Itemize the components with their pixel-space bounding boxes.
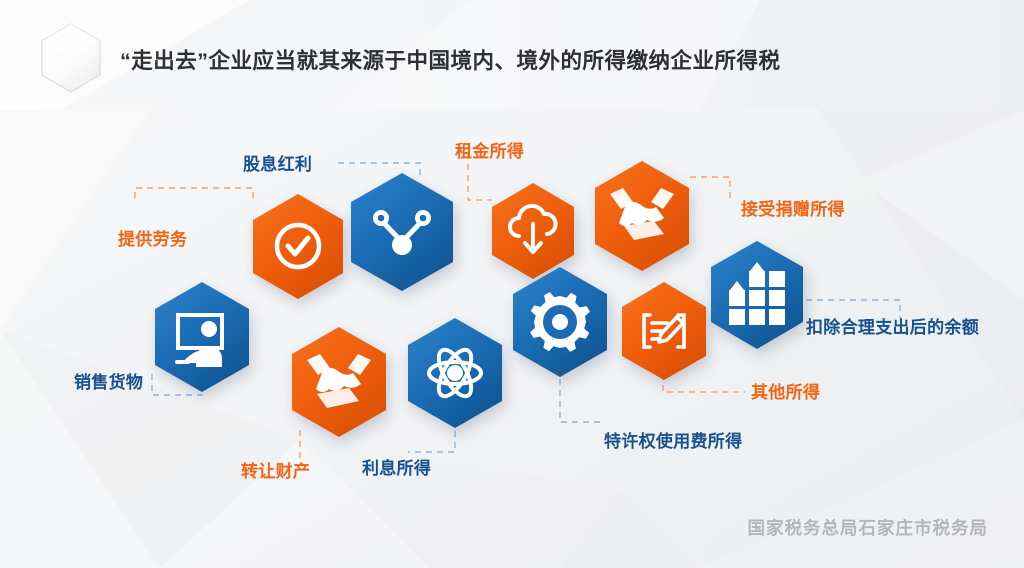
hex-node-zhuan-rang-cai-chan[interactable]	[289, 326, 389, 438]
label-jie-shou-juan-zeng: 接受捐赠所得	[741, 195, 845, 220]
label-li-xi-suo-de: 利息所得	[362, 454, 431, 479]
label-qi-ta-suo-de: 其他所得	[751, 378, 820, 403]
footer-organization: 国家税务总局石家庄市税务局	[748, 515, 989, 540]
hex-node-jie-shou-juan-zeng[interactable]	[592, 160, 692, 272]
hexagon-decoration-icon	[38, 22, 104, 94]
label-zhuan-rang-cai-chan: 转让财产	[241, 457, 310, 482]
hex-node-kou-chu-he-li-zhi-chu[interactable]	[708, 240, 806, 350]
label-ti-gong-lao-wu: 提供劳务	[118, 225, 187, 250]
label-zu-jin-suo-de: 租金所得	[455, 137, 524, 162]
hex-node-xiao-shou-huo-wu[interactable]	[152, 281, 252, 393]
page-title: “走出去”企业应当就其来源于中国境内、境外的所得缴纳企业所得税	[120, 44, 781, 75]
label-kou-chu-he-li-zhi-chu: 扣除合理支出后的余额	[806, 313, 979, 338]
slide-canvas: “走出去”企业应当就其来源于中国境内、境外的所得缴纳企业所得税	[0, 0, 1024, 568]
header-bar: “走出去”企业应当就其来源于中国境内、境外的所得缴纳企业所得税	[0, 0, 1024, 110]
label-gu-xi-hong-li: 股息红利	[243, 150, 312, 175]
hex-node-te-xu-quan-shi-yong-fei[interactable]	[510, 266, 610, 378]
hex-node-gu-xi-hong-li[interactable]	[348, 172, 456, 292]
hex-node-ti-gong-lao-wu[interactable]	[250, 193, 346, 300]
hex-node-li-xi-suo-de[interactable]	[405, 317, 505, 429]
label-te-xu-quan-shi-yong-fei: 特许权使用费所得	[604, 427, 742, 452]
hex-node-qi-ta-suo-de[interactable]	[619, 281, 709, 381]
label-xiao-shou-huo-wu: 销售货物	[74, 368, 143, 393]
